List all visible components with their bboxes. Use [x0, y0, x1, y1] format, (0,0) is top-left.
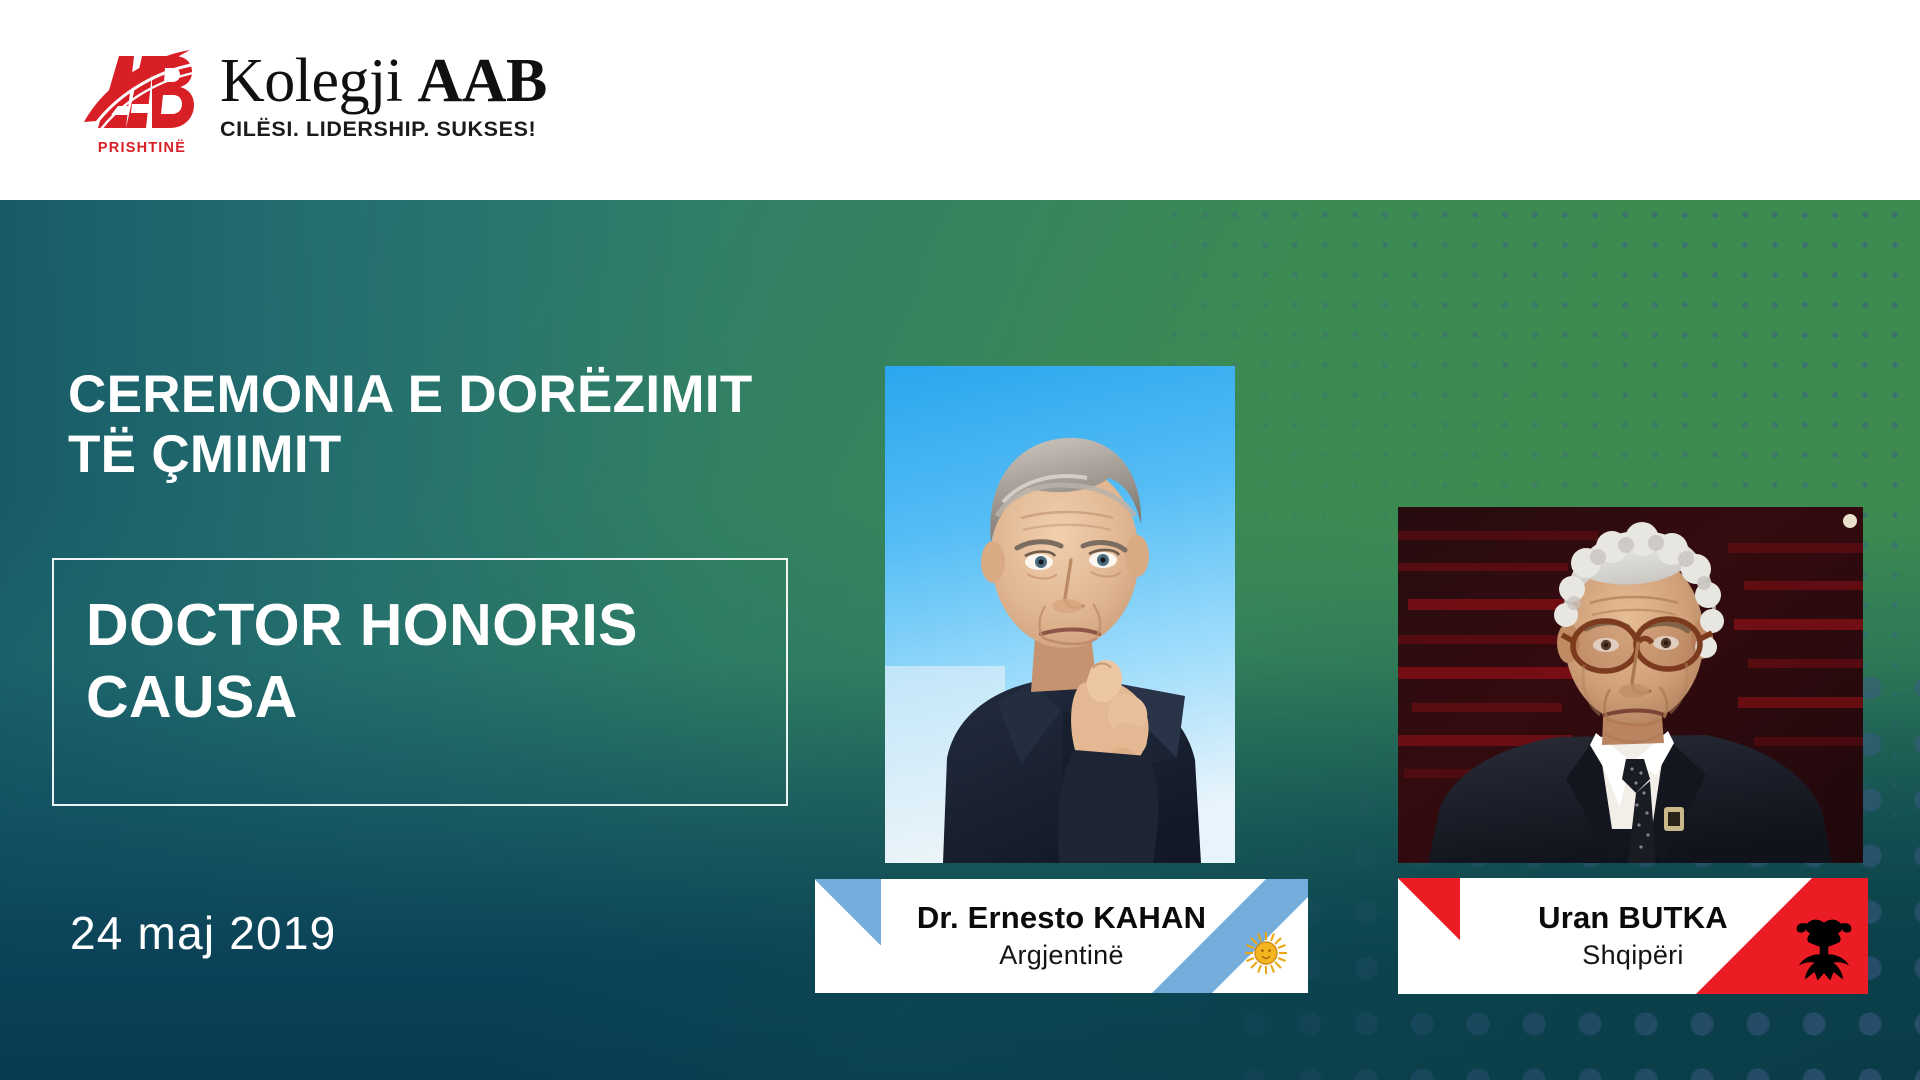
albania-flag-corner-top-left — [1398, 878, 1460, 940]
argentina-flag-corner-top-left — [815, 879, 881, 945]
honoree-card-butka: Uran BUTKA Shqipëri — [1398, 878, 1868, 994]
logo-title-bold: AAB — [417, 47, 546, 115]
award-title-box: DOCTOR HONORIS CAUSA — [52, 558, 788, 806]
argentina-flag-svg — [1108, 879, 1308, 993]
left-text-column: CEREMONIA E DORËZIMIT TË ÇMIMIT DOCTOR H… — [0, 200, 840, 1080]
aab-emblem-svg — [82, 36, 204, 154]
presentation-slide: PRISHTINË Kolegji AAB CILËSI. LIDERSHIP.… — [0, 0, 1920, 1080]
honoree-name: Uran BUTKA — [1538, 901, 1728, 935]
event-title: CEREMONIA E DORËZIMIT TË ÇMIMIT — [68, 365, 808, 486]
honoree-name: Dr. Ernesto KAHAN — [917, 901, 1206, 935]
logo-badge-prishtine: PRISHTINË — [90, 140, 194, 156]
logo-tagline: CILËSI. LIDERSHIP. SUKSES! — [220, 117, 547, 142]
albania-flag-svg — [1678, 878, 1868, 994]
portrait-uran-butka — [1398, 507, 1863, 863]
portrait-uran-butka-svg — [1398, 507, 1863, 863]
logo-wordmark: Kolegji AAB CILËSI. LIDERSHIP. SUKSES! — [220, 48, 547, 142]
brand-logo: PRISHTINË Kolegji AAB CILËSI. LIDERSHIP.… — [82, 36, 547, 154]
albanian-eagle-icon — [1797, 920, 1852, 981]
logo-title-light: Kolegji — [220, 47, 417, 115]
logo-title: Kolegji AAB — [220, 52, 547, 112]
honoree-country: Shqipëri — [1582, 941, 1683, 971]
sun-of-may-icon — [1245, 932, 1287, 974]
argentina-flag-corner-bottom-right — [1108, 879, 1308, 993]
aab-emblem-icon: PRISHTINË — [82, 36, 204, 154]
portrait-ernesto-kahan-svg — [885, 366, 1235, 863]
honoree-card-kahan: Dr. Ernesto KAHAN Argjentinë — [815, 879, 1308, 993]
albania-flag-corner-bottom-right — [1678, 878, 1868, 994]
portrait-ernesto-kahan — [885, 366, 1235, 863]
award-title: DOCTOR HONORIS CAUSA — [86, 590, 776, 734]
event-date: 24 maj 2019 — [70, 906, 336, 960]
honoree-country: Argjentinë — [999, 941, 1124, 971]
header-bar: PRISHTINË Kolegji AAB CILËSI. LIDERSHIP.… — [0, 0, 1920, 200]
